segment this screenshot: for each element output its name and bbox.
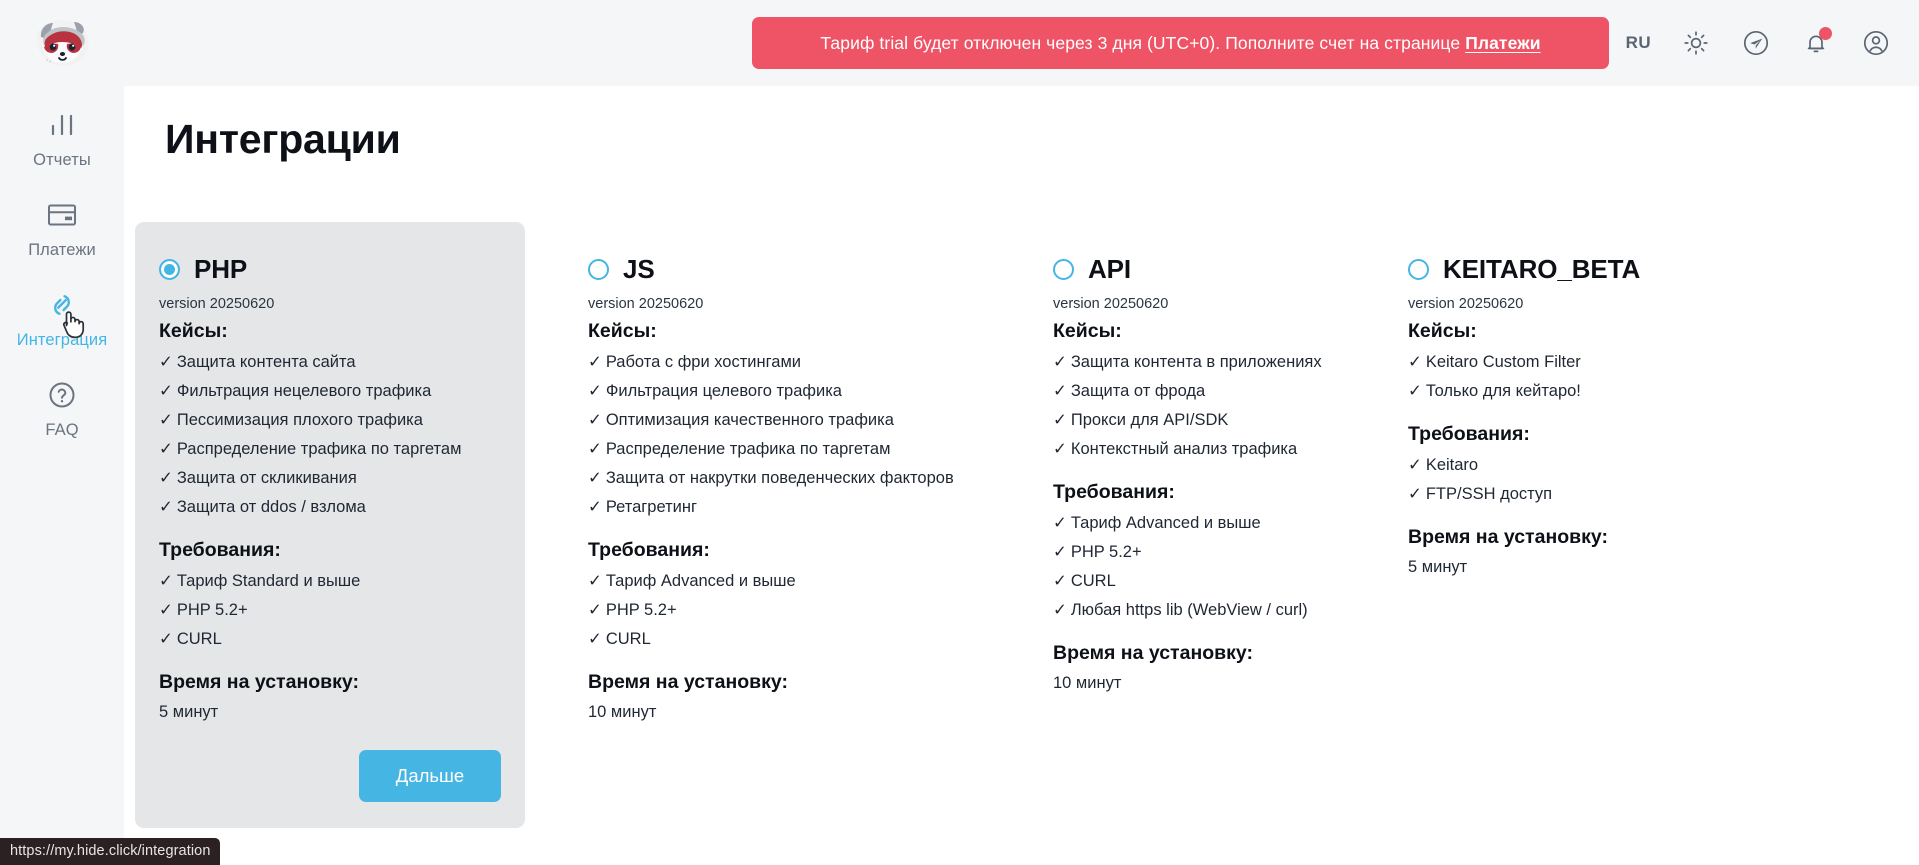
sidebar-label-faq: FAQ xyxy=(45,421,78,440)
time-heading-php: Время на установку: xyxy=(159,671,501,694)
feature-label: Защита от фрода xyxy=(1071,382,1205,400)
feature-label: Защита контента сайта xyxy=(177,353,356,371)
card-header-js: JS xyxy=(588,254,940,284)
feature-item: ✓Работа с фри хостингами xyxy=(588,352,940,372)
feature-item: ✓FTP/SSH доступ xyxy=(1408,484,1760,504)
raccoon-logo-icon xyxy=(31,17,93,69)
integration-card-php[interactable]: PHP version 20250620 Кейсы: ✓Защита конт… xyxy=(135,222,525,828)
time-value-js: 10 минут xyxy=(588,703,940,722)
check-icon: ✓ xyxy=(159,630,173,648)
card-header-php: PHP xyxy=(159,254,501,284)
top-header-bar: Тариф trial будет отключен через 3 дня (… xyxy=(0,0,1919,86)
feature-item: ✓Keitaro xyxy=(1408,455,1760,475)
account-user-icon[interactable] xyxy=(1861,28,1891,58)
check-icon: ✓ xyxy=(159,469,173,487)
check-icon: ✓ xyxy=(1053,514,1067,532)
feature-item: ✓Любая https lib (WebView / curl) xyxy=(1053,600,1335,620)
check-icon: ✓ xyxy=(588,630,602,648)
requirements-list-api: ✓Тариф Advanced и выше✓PHP 5.2+✓CURL✓Люб… xyxy=(1053,513,1335,620)
feature-item: ✓CURL xyxy=(159,629,501,649)
radio-js[interactable] xyxy=(588,259,609,280)
feature-label: Контекстный анализ трафика xyxy=(1071,440,1297,458)
integration-card-api[interactable]: API version 20250620 Кейсы: ✓Защита конт… xyxy=(1029,222,1359,719)
sidebar-label-payments: Платежи xyxy=(28,241,96,260)
card-title-keitaro-beta: KEITARO_BETA xyxy=(1443,254,1640,285)
feature-label: FTP/SSH доступ xyxy=(1426,485,1552,503)
notification-badge-dot xyxy=(1819,27,1832,40)
radio-api[interactable] xyxy=(1053,259,1074,280)
feature-label: Ретагретинг xyxy=(606,498,697,516)
card-version-js: version 20250620 xyxy=(588,296,940,312)
card-actions-php: Дальше xyxy=(159,722,501,802)
feature-item: ✓Защита от фрода xyxy=(1053,381,1335,401)
bar-chart-icon xyxy=(45,108,79,142)
cases-list-js: ✓Работа с фри хостингами✓Фильтрация целе… xyxy=(588,352,940,517)
feature-label: Защита от скликивания xyxy=(177,469,357,487)
feature-label: Фильтрация нецелевого трафика xyxy=(177,382,431,400)
feature-label: PHP 5.2+ xyxy=(606,601,677,619)
requirements-heading-keitaro-beta: Требования: xyxy=(1408,423,1760,446)
check-icon: ✓ xyxy=(588,440,602,458)
radio-keitaro-beta[interactable] xyxy=(1408,259,1429,280)
feature-label: PHP 5.2+ xyxy=(177,601,248,619)
question-circle-icon xyxy=(45,378,79,412)
check-icon: ✓ xyxy=(1053,543,1067,561)
feature-item: ✓PHP 5.2+ xyxy=(1053,542,1335,562)
feature-item: ✓PHP 5.2+ xyxy=(159,600,501,620)
integration-card-js[interactable]: JS version 20250620 Кейсы: ✓Работа с фри… xyxy=(564,222,964,748)
feature-item: ✓Защита контента сайта xyxy=(159,352,501,372)
integration-card-keitaro-beta[interactable]: KEITARO_BETA version 20250620 Кейсы: ✓Ke… xyxy=(1384,222,1784,603)
next-button[interactable]: Дальше xyxy=(359,750,501,802)
sidebar-item-reports[interactable]: Отчеты xyxy=(0,86,124,176)
check-icon: ✓ xyxy=(588,572,602,590)
header-tools: RU xyxy=(1626,0,1891,86)
time-heading-keitaro-beta: Время на установку: xyxy=(1408,526,1760,549)
feature-item: ✓Распределение трафика по таргетам xyxy=(159,439,501,459)
check-icon: ✓ xyxy=(1053,440,1067,458)
feature-label: PHP 5.2+ xyxy=(1071,543,1142,561)
card-title-js: JS xyxy=(623,254,655,285)
feature-item: ✓Тариф Advanced и выше xyxy=(588,571,940,591)
feature-item: ✓Распределение трафика по таргетам xyxy=(588,439,940,459)
feature-item: ✓Пессимизация плохого трафика xyxy=(159,410,501,430)
feature-label: Тариф Advanced и выше xyxy=(606,572,796,590)
time-heading-js: Время на установку: xyxy=(588,671,940,694)
feature-label: Тариф Advanced и выше xyxy=(1071,514,1261,532)
feature-label: Пессимизация плохого трафика xyxy=(177,411,423,429)
feature-label: Тариф Standard и выше xyxy=(177,572,360,590)
check-icon: ✓ xyxy=(159,440,173,458)
card-payment-icon xyxy=(45,198,79,232)
card-version-php: version 20250620 xyxy=(159,296,501,312)
check-icon: ✓ xyxy=(1408,485,1422,503)
time-value-api: 10 минут xyxy=(1053,674,1335,693)
check-icon: ✓ xyxy=(588,498,602,516)
cases-list-php: ✓Защита контента сайта✓Фильтрация нецеле… xyxy=(159,352,501,517)
requirements-heading-api: Требования: xyxy=(1053,481,1335,504)
check-icon: ✓ xyxy=(159,411,173,429)
feature-label: CURL xyxy=(606,630,651,648)
card-header-keitaro-beta: KEITARO_BETA xyxy=(1408,254,1760,284)
feature-item: ✓Фильтрация нецелевого трафика xyxy=(159,381,501,401)
check-icon: ✓ xyxy=(1408,382,1422,400)
feature-item: ✓Контекстный анализ трафика xyxy=(1053,439,1335,459)
check-icon: ✓ xyxy=(1053,601,1067,619)
sidebar-label-reports: Отчеты xyxy=(33,151,91,170)
feature-item: ✓PHP 5.2+ xyxy=(588,600,940,620)
feature-item: ✓Тариф Standard и выше xyxy=(159,571,501,591)
card-header-api: API xyxy=(1053,254,1335,284)
link-integration-icon xyxy=(45,288,79,322)
sidebar-label-integration: Интеграция xyxy=(17,331,108,350)
feature-label: Только для кейтаро! xyxy=(1426,382,1581,400)
feature-label: Защита от накрутки поведенческих факторо… xyxy=(606,469,954,487)
requirements-heading-php: Требования: xyxy=(159,539,501,562)
trial-alert-banner: Тариф trial будет отключен через 3 дня (… xyxy=(752,17,1609,69)
telegram-icon[interactable] xyxy=(1741,28,1771,58)
check-icon: ✓ xyxy=(159,601,173,619)
sidebar-item-payments[interactable]: Платежи xyxy=(0,176,124,266)
cases-heading-api: Кейсы: xyxy=(1053,320,1335,343)
requirements-list-js: ✓Тариф Advanced и выше✓PHP 5.2+✓CURL xyxy=(588,571,940,649)
check-icon: ✓ xyxy=(1408,353,1422,371)
browser-status-bar-url: https://my.hide.click/integration xyxy=(0,838,220,865)
feature-item: ✓Защита от скликивания xyxy=(159,468,501,488)
check-icon: ✓ xyxy=(1053,411,1067,429)
feature-item: ✓Фильтрация целевого трафика xyxy=(588,381,940,401)
feature-item: ✓Защита от ddos / взлома xyxy=(159,497,501,517)
requirements-list-php: ✓Тариф Standard и выше✓PHP 5.2+✓CURL xyxy=(159,571,501,649)
time-value-php: 5 минут xyxy=(159,703,501,722)
card-title-api: API xyxy=(1088,254,1131,285)
feature-item: ✓Оптимизация качественного трафика xyxy=(588,410,940,430)
feature-item: ✓Защита от накрутки поведенческих фактор… xyxy=(588,468,940,488)
app-root: Тариф trial будет отключен через 3 дня (… xyxy=(0,0,1919,865)
feature-item: ✓CURL xyxy=(1053,571,1335,591)
check-icon: ✓ xyxy=(159,572,173,590)
check-icon: ✓ xyxy=(1053,353,1067,371)
check-icon: ✓ xyxy=(588,469,602,487)
sidebar-item-faq[interactable]: FAQ xyxy=(0,356,124,446)
feature-label: Распределение трафика по таргетам xyxy=(177,440,462,458)
left-sidebar: Отчеты Платежи Интеграция xyxy=(0,86,124,865)
check-icon: ✓ xyxy=(159,382,173,400)
cases-list-api: ✓Защита контента в приложениях✓Защита от… xyxy=(1053,352,1335,459)
cases-heading-js: Кейсы: xyxy=(588,320,940,343)
feature-label: Распределение трафика по таргетам xyxy=(606,440,891,458)
feature-label: Защита от ddos / взлома xyxy=(177,498,366,516)
cases-heading-keitaro-beta: Кейсы: xyxy=(1408,320,1760,343)
card-title-php: PHP xyxy=(194,254,247,285)
language-switcher[interactable]: RU xyxy=(1626,33,1651,53)
feature-label: Фильтрация целевого трафика xyxy=(606,382,842,400)
theme-sun-icon[interactable] xyxy=(1681,28,1711,58)
sidebar-item-integration[interactable]: Интеграция xyxy=(0,266,124,356)
radio-php[interactable] xyxy=(159,259,180,280)
trial-alert-text: Тариф trial будет отключен через 3 дня (… xyxy=(820,33,1460,54)
feature-item: ✓CURL xyxy=(588,629,940,649)
feature-label: Keitaro xyxy=(1426,456,1478,474)
feature-label: Прокси для API/SDK xyxy=(1071,411,1229,429)
page-title: Интеграции xyxy=(165,116,401,163)
check-icon: ✓ xyxy=(1053,572,1067,590)
feature-item: ✓Ретагретинг xyxy=(588,497,940,517)
cases-list-keitaro-beta: ✓Keitaro Custom Filter✓Только для кейтар… xyxy=(1408,352,1760,401)
feature-label: Любая https lib (WebView / curl) xyxy=(1071,601,1308,619)
requirements-heading-js: Требования: xyxy=(588,539,940,562)
check-icon: ✓ xyxy=(159,353,173,371)
main-content: Интеграции PHP version 20250620 Кейсы: ✓… xyxy=(124,86,1919,865)
feature-label: Работа с фри хостингами xyxy=(606,353,801,371)
feature-label: Оптимизация качественного трафика xyxy=(606,411,894,429)
time-heading-api: Время на установку: xyxy=(1053,642,1335,665)
check-icon: ✓ xyxy=(159,498,173,516)
check-icon: ✓ xyxy=(588,353,602,371)
feature-item: ✓Прокси для API/SDK xyxy=(1053,410,1335,430)
card-version-keitaro-beta: version 20250620 xyxy=(1408,296,1760,312)
cases-heading-php: Кейсы: xyxy=(159,320,501,343)
app-logo[interactable] xyxy=(0,0,124,86)
card-version-api: version 20250620 xyxy=(1053,296,1335,312)
feature-item: ✓Keitaro Custom Filter xyxy=(1408,352,1760,372)
check-icon: ✓ xyxy=(588,411,602,429)
feature-label: Защита контента в приложениях xyxy=(1071,353,1322,371)
alert-payments-link[interactable]: Платежи xyxy=(1465,33,1540,54)
feature-item: ✓Тариф Advanced и выше xyxy=(1053,513,1335,533)
feature-item: ✓Защита контента в приложениях xyxy=(1053,352,1335,372)
feature-item: ✓Только для кейтаро! xyxy=(1408,381,1760,401)
feature-label: CURL xyxy=(1071,572,1116,590)
notifications-bell-icon[interactable] xyxy=(1801,28,1831,58)
feature-label: CURL xyxy=(177,630,222,648)
check-icon: ✓ xyxy=(588,382,602,400)
requirements-list-keitaro-beta: ✓Keitaro✓FTP/SSH доступ xyxy=(1408,455,1760,504)
time-value-keitaro-beta: 5 минут xyxy=(1408,558,1760,577)
check-icon: ✓ xyxy=(1053,382,1067,400)
check-icon: ✓ xyxy=(1408,456,1422,474)
check-icon: ✓ xyxy=(588,601,602,619)
feature-label: Keitaro Custom Filter xyxy=(1426,353,1581,371)
